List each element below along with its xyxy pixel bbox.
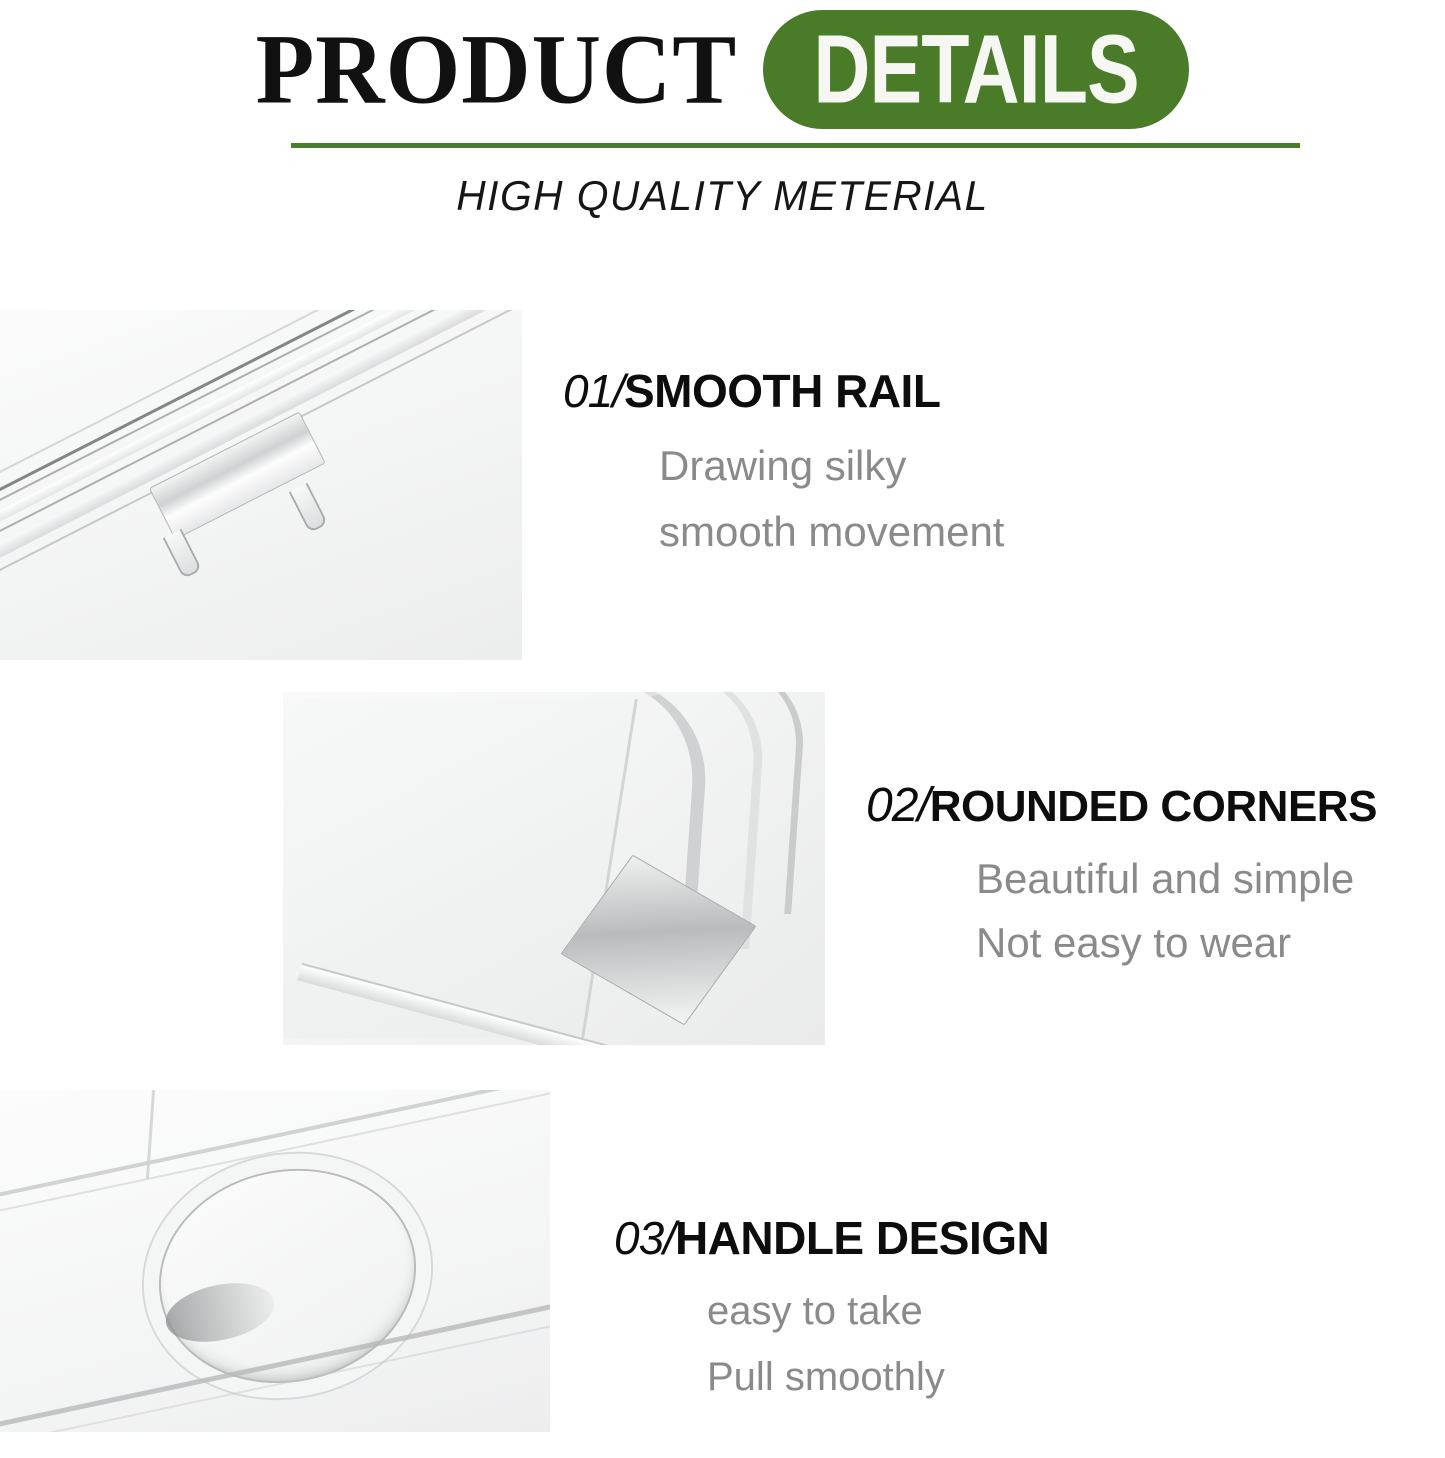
feature-block-01: 01/SMOOTH RAIL Drawing silky smooth move… — [0, 310, 1445, 670]
feature-01-number: 01/ — [563, 365, 624, 417]
feature-03-description-line-2: Pull smoothly — [707, 1357, 1049, 1397]
feature-03-text: 03/HANDLE DESIGN easy to take Pull smoot… — [614, 1215, 1049, 1397]
header-title-row: PRODUCT DETAILS — [0, 4, 1445, 134]
feature-01-description-line-1: Drawing silky — [659, 445, 1004, 487]
header: PRODUCT DETAILS HIGH QUALITY METERIAL — [0, 0, 1445, 240]
feature-03-heading: 03/HANDLE DESIGN — [614, 1215, 1049, 1261]
feature-02-heading: 02/ROUNDED CORNERS — [866, 782, 1377, 830]
smooth-rail-photo — [0, 310, 522, 660]
feature-03-title: HANDLE DESIGN — [675, 1212, 1049, 1264]
feature-03-number: 03/ — [614, 1212, 675, 1264]
feature-01-title: SMOOTH RAIL — [624, 365, 940, 417]
feature-02-number: 02/ — [866, 779, 930, 832]
page-title-primary: PRODUCT — [256, 19, 738, 119]
handle-design-photo — [0, 1090, 550, 1432]
feature-02-title: ROUNDED CORNERS — [930, 782, 1377, 831]
feature-01-heading: 01/SMOOTH RAIL — [563, 368, 1004, 414]
feature-block-02: 02/ROUNDED CORNERS Beautiful and simple … — [0, 692, 1445, 1057]
feature-02-description-line-2: Not easy to wear — [976, 922, 1377, 964]
details-badge: DETAILS — [763, 10, 1189, 129]
header-divider-rule — [291, 143, 1300, 148]
smooth-rail-photo-art — [0, 310, 522, 660]
feature-02-description-line-1: Beautiful and simple — [976, 858, 1377, 900]
feature-01-text: 01/SMOOTH RAIL Drawing silky smooth move… — [563, 368, 1004, 553]
feature-03-description-line-1: easy to take — [707, 1291, 1049, 1331]
feature-02-text: 02/ROUNDED CORNERS Beautiful and simple … — [866, 782, 1377, 964]
rounded-corners-photo — [283, 692, 825, 1045]
header-subtitle: HIGH QUALITY METERIAL — [22, 172, 1424, 220]
details-badge-label: DETAILS — [814, 20, 1139, 117]
feature-01-description-line-2: smooth movement — [659, 511, 1004, 553]
feature-block-03: 03/HANDLE DESIGN easy to take Pull smoot… — [0, 1090, 1445, 1435]
handle-design-photo-art — [0, 1090, 550, 1432]
rounded-corners-photo-art — [283, 692, 825, 1045]
